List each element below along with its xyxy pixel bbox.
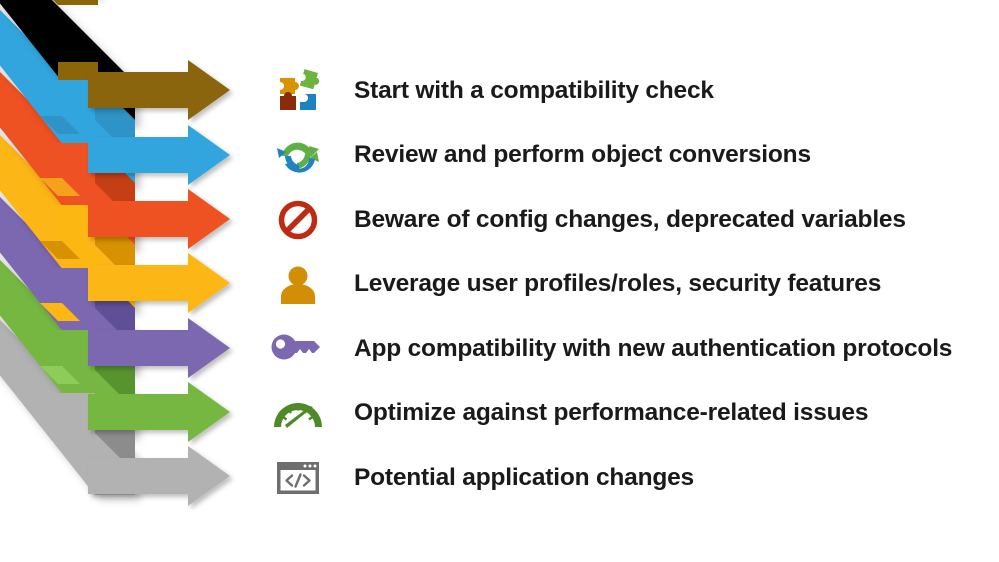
slide-canvas: Start with a compatibility check Review … — [0, 0, 999, 562]
key-icon — [262, 317, 334, 381]
refresh-sync-icon — [262, 124, 334, 188]
list-item-4-label: Leverage user profiles/roles, security f… — [334, 271, 881, 298]
list-item-5: App compatibility with new authenticatio… — [262, 316, 997, 382]
list-item-6: Optimize against performance-related iss… — [262, 381, 997, 447]
list-item-6-label: Optimize against performance-related iss… — [334, 400, 868, 427]
braided-ribbon-arrows-graphic — [0, 0, 260, 530]
list-item-1-label: Start with a compatibility check — [334, 78, 714, 105]
list-item-7: Potential application changes — [262, 445, 997, 511]
list-item-7-label: Potential application changes — [334, 465, 694, 492]
list-item-2-label: Review and perform object conversions — [334, 142, 811, 169]
list-item-5-label: App compatibility with new authenticatio… — [334, 336, 952, 363]
speedometer-gauge-icon — [262, 382, 334, 446]
list-item-1: Start with a compatibility check — [262, 58, 997, 124]
user-person-icon — [262, 253, 334, 317]
code-window-icon — [262, 446, 334, 510]
puzzle-pieces-icon — [262, 59, 334, 123]
prohibited-sign-icon — [262, 188, 334, 252]
list-item-3-label: Beware of config changes, deprecated var… — [334, 207, 906, 234]
list-item-2: Review and perform object conversions — [262, 123, 997, 189]
list-item-3: Beware of config changes, deprecated var… — [262, 187, 997, 253]
items-list: Start with a compatibility check Review … — [262, 58, 997, 523]
list-item-4: Leverage user profiles/roles, security f… — [262, 252, 997, 318]
